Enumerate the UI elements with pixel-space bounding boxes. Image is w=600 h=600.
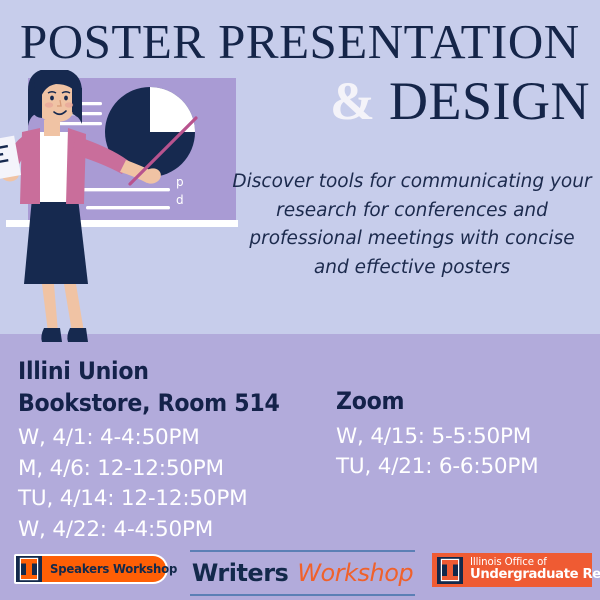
undergraduate-research-logo[interactable]: Illinois Office of Undergraduate Researc… <box>432 553 592 587</box>
venue-name-in-person: Illini Union Bookstore, Room 514 <box>18 356 312 419</box>
session-item: W, 4/15: 5-5:50PM <box>336 422 596 453</box>
venue-name-zoom: Zoom <box>336 386 575 418</box>
illinois-block-i-icon <box>437 557 463 584</box>
speakers-workshop-label: Speakers Workshop <box>50 562 177 576</box>
poster-title-line-2: &DESIGN <box>250 73 590 130</box>
title-word-design: DESIGN <box>389 71 590 131</box>
speakers-workshop-logo[interactable]: Speakers Workshop <box>14 554 168 584</box>
schedule-column-zoom: Zoom W, 4/15: 5-5:50PM TU, 4/21: 6-6:50P… <box>336 386 596 483</box>
writers-workshop-word-workshop: Workshop <box>297 559 413 587</box>
session-list-zoom: W, 4/15: 5-5:50PM TU, 4/21: 6-6:50PM <box>336 422 596 483</box>
session-item: W, 4/1: 4-4:50PM <box>18 423 338 454</box>
schedule-column-in-person: Illini Union Bookstore, Room 514 W, 4/1:… <box>18 356 338 545</box>
session-item: TU, 4/21: 6-6:50PM <box>336 452 596 483</box>
svg-text:d: d <box>176 193 184 207</box>
session-item: TU, 4/14: 12-12:50PM <box>18 484 338 515</box>
illinois-block-i-icon <box>16 556 42 582</box>
poster-canvas: p d <box>0 0 600 600</box>
writers-workshop-word-writers: Writers <box>192 559 288 587</box>
writers-workshop-logo[interactable]: Writers Workshop <box>190 550 415 596</box>
poster-description: Discover tools for communicating your re… <box>232 168 592 283</box>
session-list-in-person: W, 4/1: 4-4:50PM M, 4/6: 12-12:50PM TU, … <box>18 423 338 545</box>
footer-logo-bar: Speakers Workshop Writers Workshop Illin… <box>0 548 600 596</box>
speakers-workshop-pill: Speakers Workshop <box>16 556 166 582</box>
presenter-illustration: p d <box>0 70 250 370</box>
poster-title-line-1: POSTER PRESENTATION <box>20 16 586 67</box>
undergraduate-research-text: Illinois Office of Undergraduate Researc… <box>470 557 600 583</box>
ampersand-glyph: & <box>330 71 375 131</box>
svg-text:p: p <box>176 175 184 189</box>
session-item: W, 4/22: 4-4:50PM <box>18 515 338 546</box>
session-item: M, 4/6: 12-12:50PM <box>18 454 338 485</box>
undergraduate-research-line-2: Undergraduate Research <box>470 568 600 583</box>
